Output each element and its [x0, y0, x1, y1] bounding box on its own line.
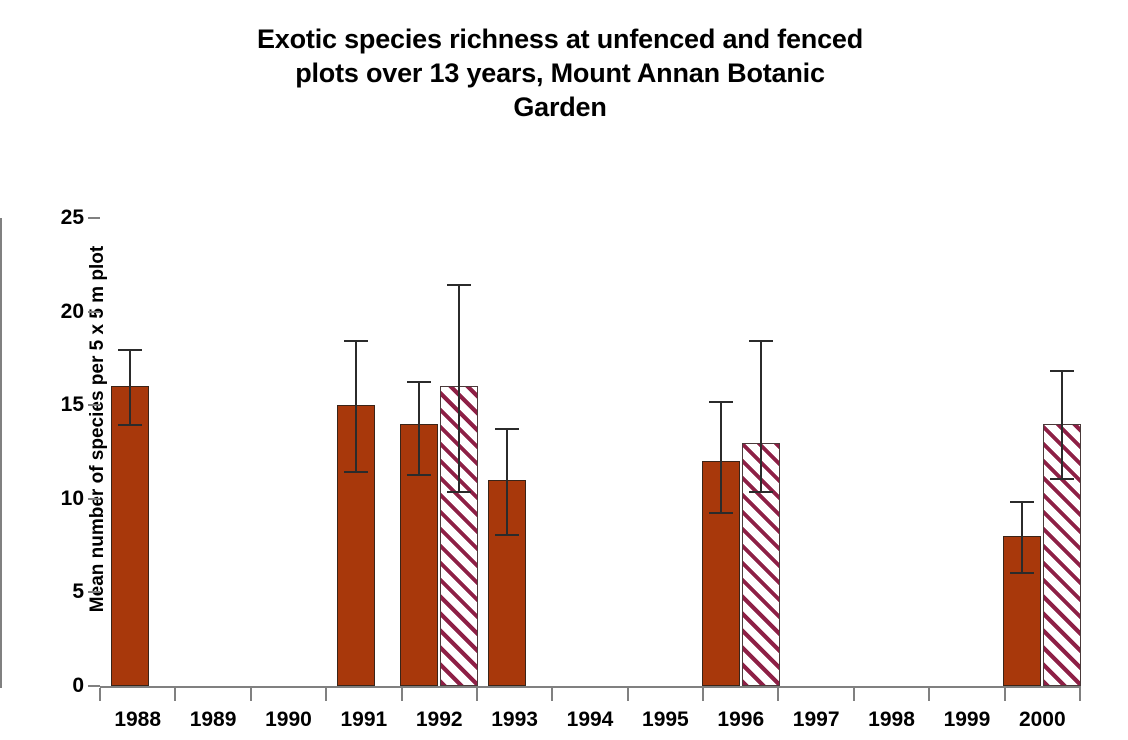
x-tick-label-1989: 1989	[170, 708, 256, 732]
x-tick-mark-6	[551, 688, 553, 701]
x-tick-mark-12	[1004, 688, 1006, 701]
x-tick-label-1988: 1988	[95, 708, 181, 732]
x-tick-label-1993: 1993	[472, 708, 558, 732]
error-bar-cap-top-unfenced-2000	[1010, 501, 1034, 503]
error-bar-stem-unfenced-2000	[1021, 501, 1023, 572]
x-tick-label-1998: 1998	[849, 708, 935, 732]
x-tick-label-1992: 1992	[396, 708, 482, 732]
x-tick-label-2000: 2000	[999, 708, 1085, 732]
x-tick-label-1999: 1999	[924, 708, 1010, 732]
y-tick-label-10: 10	[24, 488, 84, 509]
error-bar-cap-top-unfenced-1993	[495, 428, 519, 430]
x-tick-mark-5	[476, 688, 478, 701]
error-bar-cap-bottom-fenced-1992	[447, 491, 471, 493]
x-tick-mark-2	[250, 688, 252, 701]
chart-title-line-3: Garden	[110, 90, 1010, 124]
error-bar-stem-fenced-1996	[760, 340, 762, 492]
error-bar-cap-top-unfenced-1996	[709, 401, 733, 403]
error-bar-cap-top-unfenced-1992	[407, 381, 431, 383]
chart-title-line-2: plots over 13 years, Mount Annan Botanic	[110, 56, 1010, 90]
x-tick-label-1997: 1997	[773, 708, 859, 732]
y-tick-label-25: 25	[24, 207, 84, 228]
error-bar-cap-bottom-unfenced-1991	[344, 471, 368, 473]
x-tick-mark-3	[325, 688, 327, 701]
error-bar-cap-top-unfenced-1991	[344, 340, 368, 342]
error-bar-cap-top-unfenced-1988	[118, 349, 142, 351]
error-bar-cap-top-fenced-1992	[447, 284, 471, 286]
error-bar-stem-fenced-2000	[1061, 370, 1063, 479]
y-tick-mark-10	[88, 498, 100, 500]
error-bar-stem-unfenced-1992	[418, 381, 420, 475]
x-tick-mark-11	[928, 688, 930, 701]
x-tick-mark-10	[853, 688, 855, 701]
error-bar-stem-unfenced-1996	[720, 401, 722, 511]
x-tick-label-1996: 1996	[698, 708, 784, 732]
error-bar-cap-bottom-unfenced-1992	[407, 474, 431, 476]
y-tick-mark-5	[88, 591, 100, 593]
chart-title-line-1: Exotic species richness at unfenced and …	[110, 22, 1010, 56]
error-bar-cap-top-fenced-2000	[1050, 370, 1074, 372]
error-bar-cap-bottom-unfenced-2000	[1010, 572, 1034, 574]
y-tick-mark-0	[88, 685, 100, 687]
y-tick-mark-15	[88, 404, 100, 406]
y-tick-label-0: 0	[24, 675, 84, 696]
x-tick-mark-8	[702, 688, 704, 701]
y-tick-label-5: 5	[24, 581, 84, 602]
chart-figure: Exotic species richness at unfenced and …	[0, 0, 1128, 740]
x-tick-label-1994: 1994	[547, 708, 633, 732]
x-tick-mark-4	[401, 688, 403, 701]
x-tick-mark-9	[777, 688, 779, 701]
y-axis-line	[0, 218, 2, 688]
error-bar-cap-bottom-unfenced-1996	[709, 512, 733, 514]
error-bar-cap-bottom-fenced-2000	[1050, 478, 1074, 480]
x-tick-mark-13	[1079, 688, 1081, 701]
x-tick-label-1990: 1990	[245, 708, 331, 732]
y-tick-mark-25	[88, 217, 100, 219]
x-tick-label-1991: 1991	[321, 708, 407, 732]
chart-title: Exotic species richness at unfenced and …	[110, 22, 1010, 124]
x-axis-line	[100, 686, 1081, 688]
x-tick-mark-0	[99, 688, 101, 701]
error-bar-stem-unfenced-1991	[355, 340, 357, 471]
x-tick-mark-7	[627, 688, 629, 701]
error-bar-cap-bottom-fenced-1996	[749, 491, 773, 493]
x-tick-mark-1	[174, 688, 176, 701]
x-tick-label-1995: 1995	[622, 708, 708, 732]
y-tick-mark-20	[88, 311, 100, 313]
bar-unfenced-1988[interactable]	[111, 386, 149, 686]
y-tick-label-20: 20	[24, 301, 84, 322]
error-bar-cap-bottom-unfenced-1988	[118, 424, 142, 426]
y-axis-label: Mean number of species per 5 x 5 m plot	[87, 169, 109, 689]
error-bar-stem-unfenced-1993	[506, 428, 508, 535]
y-tick-label-15: 15	[24, 394, 84, 415]
error-bar-stem-fenced-1992	[458, 284, 460, 492]
error-bar-stem-unfenced-1988	[129, 349, 131, 424]
error-bar-cap-bottom-unfenced-1993	[495, 534, 519, 536]
error-bar-cap-top-fenced-1996	[749, 340, 773, 342]
